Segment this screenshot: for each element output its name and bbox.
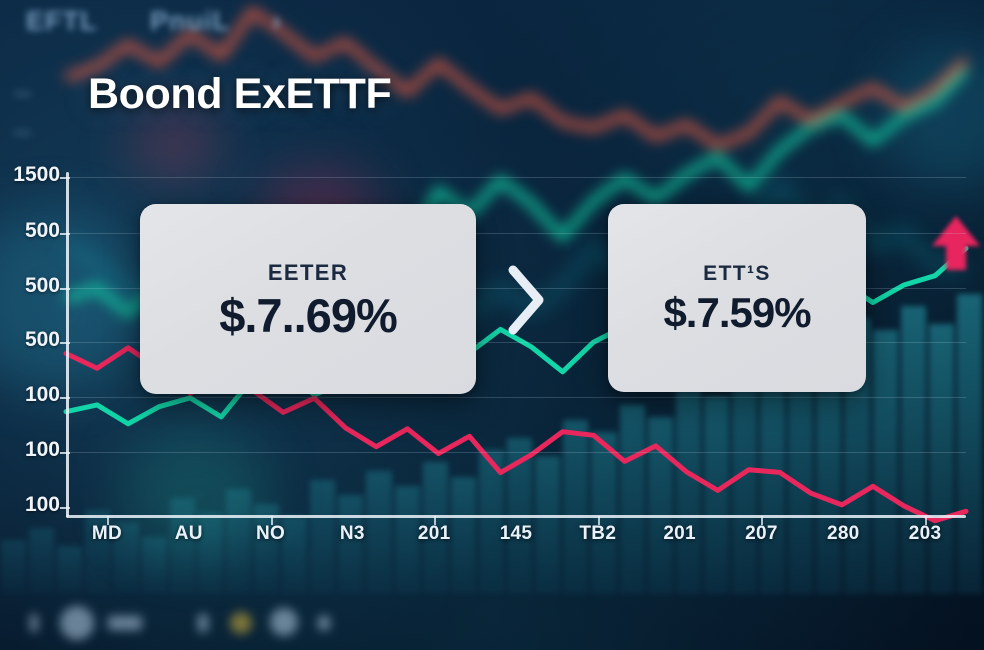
x-axis-tick-label: N3 — [312, 523, 392, 545]
metric-card-left-label: EETER — [268, 260, 348, 286]
footer-ghost-circle-icon — [60, 606, 94, 640]
footer-ghost-dot — [230, 612, 252, 634]
x-axis-tick-label: 203 — [885, 523, 965, 545]
x-axis-tick-label: 145 — [476, 523, 556, 545]
page-title: Boond ExETTF — [88, 70, 391, 119]
sidebar-ghost-item: ••• — [14, 86, 74, 103]
y-axis-tick-label: 500 — [0, 328, 60, 352]
nav-tab-secondary[interactable]: PnuiL — [150, 6, 230, 37]
sidebar-ghost-item: ••• — [14, 125, 74, 142]
x-axis-tick-label: MD — [67, 523, 147, 545]
y-axis-tick — [60, 342, 70, 344]
y-axis-tick-label: 500 — [0, 274, 60, 298]
y-axis-tick — [60, 233, 70, 235]
y-axis-tick-label: 1500 — [0, 163, 60, 187]
footer-ghost-chip — [318, 616, 330, 630]
metric-card-right-label: ETT¹S — [703, 262, 771, 286]
y-axis-tick — [60, 288, 70, 290]
nav-tab-primary[interactable]: EFTL — [26, 6, 98, 37]
y-axis-tick — [60, 507, 70, 509]
y-axis-tick-label: 100 — [0, 438, 60, 462]
sidebar-ghost-labels: ••• ••• — [14, 86, 74, 164]
x-axis-tick — [434, 516, 436, 525]
x-axis-tick-label: 201 — [640, 523, 720, 545]
footer-ghost-chip — [198, 614, 208, 632]
x-axis-tick — [761, 516, 763, 525]
gridline — [66, 397, 966, 398]
footer-ghost-chip — [108, 616, 142, 630]
footer-ghost-circle-icon — [270, 608, 298, 636]
metric-card-left-value: $.7..69% — [219, 292, 397, 339]
y-axis-tick-label: 100 — [0, 383, 60, 407]
y-axis-tick — [60, 452, 70, 454]
x-axis-tick — [107, 516, 109, 525]
x-axis-tick-label: 201 — [394, 523, 474, 545]
y-axis-line — [66, 172, 69, 517]
y-axis-tick-label: 100 — [0, 493, 60, 517]
chart-canvas: 1500500500500100100100 MDAUNON3201145TB2… — [0, 0, 984, 650]
x-axis-tick-label: TB2 — [558, 523, 638, 545]
x-axis-tick-label: 280 — [803, 523, 883, 545]
metric-card-left[interactable]: EETER $.7..69% — [140, 204, 476, 394]
top-navigation-bar[interactable]: EFTL PnuiL › — [0, 0, 984, 46]
x-axis-tick — [271, 516, 273, 525]
x-axis-tick — [925, 516, 927, 525]
metric-card-right-value: $.7.59% — [663, 292, 810, 334]
x-axis-tick — [598, 516, 600, 525]
nav-chevron-icon[interactable]: › — [272, 6, 282, 37]
chevron-right-icon[interactable] — [503, 262, 547, 338]
y-axis-tick — [60, 397, 70, 399]
x-axis-line — [66, 515, 966, 518]
footer-ghost-chip — [30, 614, 38, 632]
x-axis-tick-label: AU — [149, 523, 229, 545]
gridline — [66, 452, 966, 453]
x-axis-tick-label: NO — [231, 523, 311, 545]
y-axis-tick-label: 500 — [0, 219, 60, 243]
x-axis-tick-label: 207 — [721, 523, 801, 545]
metric-card-right[interactable]: ETT¹S $.7.59% — [608, 204, 866, 392]
gridline — [66, 177, 966, 178]
y-axis-tick — [60, 177, 70, 179]
